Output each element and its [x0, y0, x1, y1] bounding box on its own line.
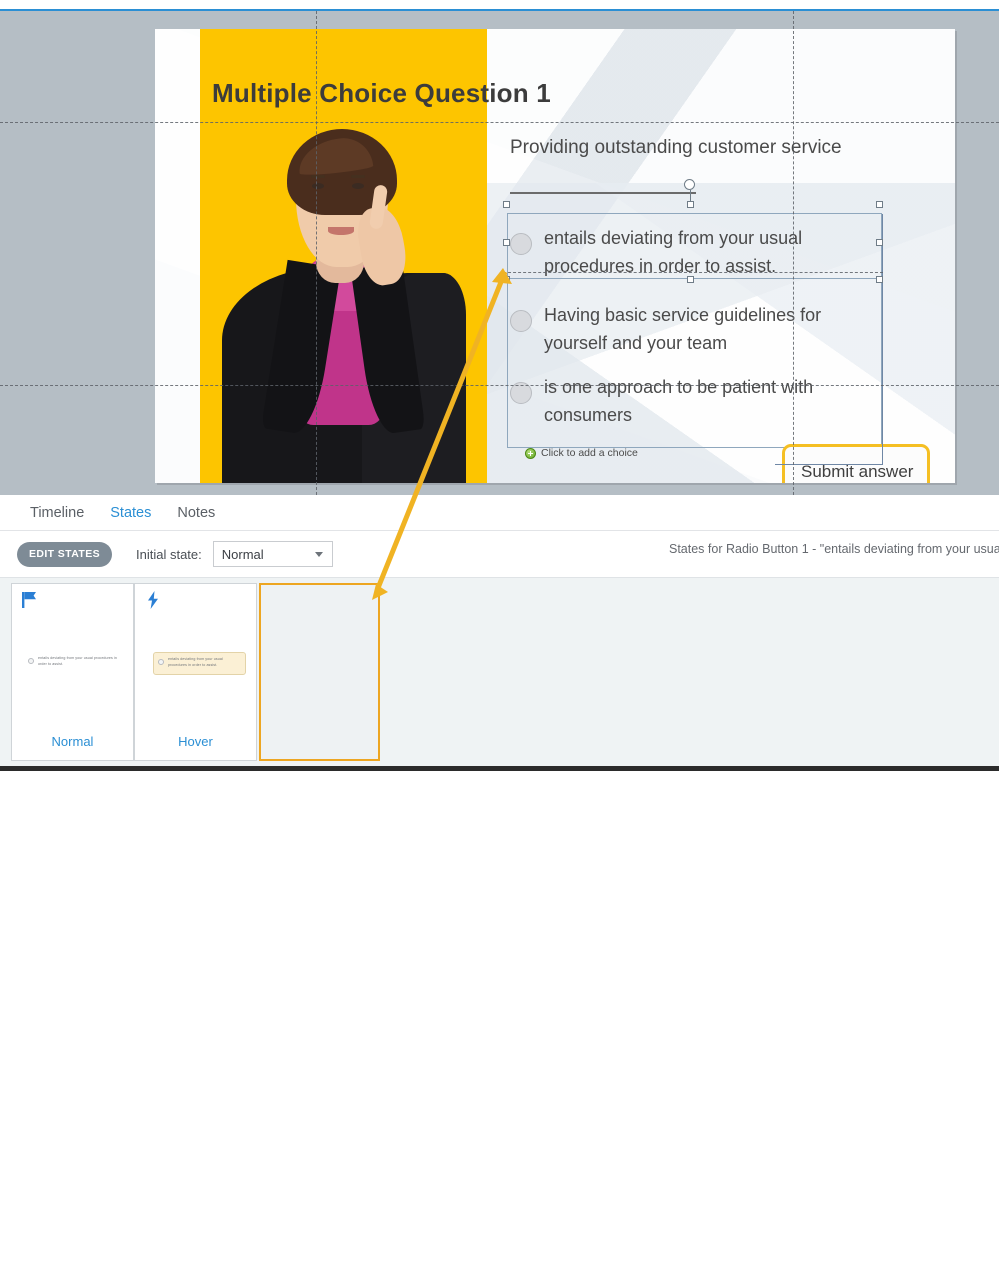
photo-mouth: [328, 227, 354, 235]
bottom-panel: Timeline States Notes EDIT STATES Initia…: [0, 495, 999, 771]
state-thumbnail-hover-preview: entails deviating from your usual proced…: [153, 652, 246, 675]
mini-radio-icon: [28, 658, 34, 664]
state-thumbnail-strip[interactable]: entails deviating from your usual proced…: [0, 577, 999, 767]
initial-state-value: Normal: [222, 547, 264, 562]
tab-timeline[interactable]: Timeline: [30, 505, 84, 521]
state-thumbnail-hover[interactable]: entails deviating from your usual proced…: [134, 583, 257, 761]
add-choice-label: Click to add a choice: [541, 447, 638, 459]
plus-circle-icon: [525, 448, 536, 459]
radio-button-1[interactable]: [510, 233, 532, 255]
slide-canvas[interactable]: Multiple Choice Question 1 Providing out…: [0, 11, 999, 495]
state-thumbnail-normal-label: Normal: [12, 734, 133, 749]
photo-eye-right: [352, 183, 364, 189]
resize-handle-top-left[interactable]: [503, 201, 510, 208]
radio-button-2[interactable]: [510, 310, 532, 332]
state-thumbnail-normal[interactable]: entails deviating from your usual proced…: [11, 583, 134, 761]
state-thumbnail-normal-preview: entails deviating from your usual proced…: [28, 656, 124, 668]
connector-vertical: [882, 214, 883, 464]
state-thumbnail-new[interactable]: [259, 583, 380, 761]
resize-handle-bottom-center[interactable]: [687, 276, 694, 283]
vertical-guide-2[interactable]: [793, 11, 794, 495]
add-choice-button[interactable]: Click to add a choice: [525, 447, 638, 459]
window-bottom-edge: [0, 766, 999, 771]
choice-label-2[interactable]: Having basic service guidelines for your…: [544, 302, 864, 358]
question-stem[interactable]: Providing outstanding customer service: [510, 137, 842, 159]
rotate-handle[interactable]: [684, 179, 695, 190]
resize-handle-bottom-right[interactable]: [876, 276, 883, 283]
choice-row-2[interactable]: Having basic service guidelines for your…: [510, 302, 864, 358]
top-white-strip: [0, 0, 999, 9]
slide-title[interactable]: Multiple Choice Question 1: [212, 78, 551, 109]
edit-states-button[interactable]: EDIT STATES: [17, 542, 112, 567]
horizontal-guide-2[interactable]: [0, 385, 999, 386]
lightning-bolt-icon: [146, 591, 160, 609]
choice-label-3[interactable]: is one approach to be patient with consu…: [544, 374, 864, 430]
state-thumbnail-hover-label: Hover: [135, 734, 256, 749]
selection-guide-middle: [503, 272, 883, 273]
photo-brow-left: [311, 175, 325, 178]
resize-handle-bottom-left[interactable]: [503, 276, 510, 283]
panel-tabs: Timeline States Notes: [0, 495, 999, 531]
stem-underline: [510, 192, 696, 194]
mini-choice-text: entails deviating from your usual proced…: [38, 656, 124, 668]
choice-row-3[interactable]: is one approach to be patient with consu…: [510, 374, 864, 430]
mini-radio-icon: [158, 659, 164, 665]
vertical-guide-1[interactable]: [316, 11, 317, 495]
resize-handle-middle-left[interactable]: [503, 239, 510, 246]
flag-icon: [22, 592, 37, 608]
horizontal-guide-1[interactable]: [0, 122, 999, 123]
resize-handle-top-right[interactable]: [876, 201, 883, 208]
connector-horizontal: [775, 464, 883, 465]
states-for-label: States for Radio Button 1 - "entails dev…: [669, 542, 999, 556]
slide-stage[interactable]: Multiple Choice Question 1 Providing out…: [155, 29, 955, 483]
tab-notes[interactable]: Notes: [177, 505, 215, 521]
mini-choice-text: entails deviating from your usual proced…: [168, 657, 240, 669]
resize-handle-middle-right[interactable]: [876, 239, 883, 246]
initial-state-select[interactable]: Normal: [213, 541, 333, 567]
chevron-down-icon: [315, 552, 323, 557]
photo-brow-right: [351, 175, 365, 178]
initial-state-label: Initial state:: [136, 547, 202, 562]
resize-handle-top-center[interactable]: [687, 201, 694, 208]
photo-eye-left: [312, 183, 324, 189]
tab-states[interactable]: States: [110, 505, 151, 521]
businesswoman-photo[interactable]: [212, 123, 474, 483]
